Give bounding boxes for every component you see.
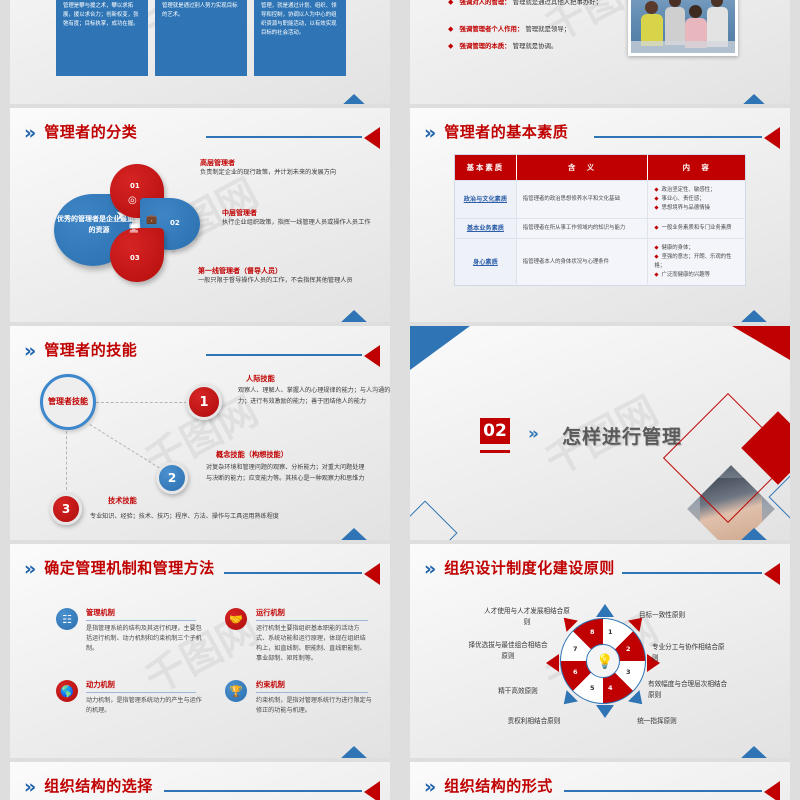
concept-box-1: 管理是攀与援之术，攀以求拓展，援以求合力；创新权变，张弛有度；目标执掌，成功在握… bbox=[56, 0, 148, 76]
petal-03-label: 第一线管理者（督导人员） bbox=[198, 266, 282, 276]
wheel-label-8: 人才使用与人才发展相结合原则 bbox=[484, 606, 570, 628]
mech-3-rule bbox=[86, 692, 196, 693]
table-row: 身心素质 指管理者本人的身体状况与心理条件 ◆健康的身体； ◆坚强的意志；开朗、… bbox=[455, 239, 746, 286]
mech-1-desc: 是指管理系统的结构及其运行机理，主要包括运行机制、动力机制和约束机制三个子机制。 bbox=[86, 624, 202, 654]
gutter-row-2 bbox=[0, 322, 800, 326]
page-title: 管理者的分类 bbox=[44, 122, 137, 143]
mech-2-heading: 运行机制 bbox=[256, 608, 285, 618]
blue-triangle-decoration bbox=[324, 746, 384, 758]
skill-3-desc: 专业知识、经验；技术、技巧；程序、方法、操作与工具运用熟练程度 bbox=[90, 512, 380, 523]
connector-1 bbox=[96, 402, 192, 403]
concept-box-3-text: 管理，就是通过计划、组织、领导和控制，协调以人为中心的组织资源与职能活动，以有效… bbox=[261, 3, 336, 36]
target-icon: ◎ bbox=[128, 195, 137, 206]
red-arrow-icon bbox=[364, 127, 380, 149]
skill-dot-3[interactable]: 3 bbox=[50, 493, 82, 525]
red-corner-triangle bbox=[732, 326, 790, 360]
bullet-1-text: 管理就是通过其他人把事办好； bbox=[513, 0, 602, 6]
title-rule bbox=[206, 124, 380, 148]
slide-header: » 管理者的基本素质 bbox=[424, 122, 782, 148]
skill-2-desc: 对复杂环境和管理问题的观察、分析能力；对重大问题处理与决断的能力；应变能力等。其… bbox=[206, 463, 370, 484]
blue-triangle-decoration bbox=[724, 746, 784, 758]
chevron-right-icon: » bbox=[424, 776, 432, 798]
table-header-content: 内 容 bbox=[648, 155, 746, 181]
slide-header: » 确定管理机制和管理方法 bbox=[24, 558, 382, 584]
petal-03-desc: 一般只限于督导操作人员的工作，不会指挥其他管理人员 bbox=[198, 276, 358, 286]
table-row: 基本业务素质 指管理者在所从事工作领域内的知识与能力 ◆一般业务素质和专门业务素… bbox=[455, 219, 746, 239]
skill-2-heading: 概念技能（构想技能） bbox=[216, 450, 288, 460]
page-title: 组织结构的形式 bbox=[444, 776, 553, 797]
principles-wheel: 💡 1 2 3 4 5 6 7 8 bbox=[556, 614, 650, 708]
slide-header: » 管理者的分类 bbox=[24, 122, 382, 148]
title-rule bbox=[164, 778, 380, 800]
red-diamond-outline bbox=[663, 393, 790, 523]
blue-triangle-decoration bbox=[724, 310, 784, 322]
cell-meaning: 指管理者在所从事工作领域内的知识与能力 bbox=[516, 219, 648, 239]
wheel-num-6: 6 bbox=[573, 668, 578, 676]
skills-center-circle: 管理者技能 bbox=[40, 374, 96, 430]
title-rule bbox=[224, 560, 380, 584]
title-rule bbox=[622, 560, 780, 584]
wheel-label-3: 有效幅度与合理层次相结合原则 bbox=[648, 679, 728, 701]
petal-01-desc: 负责制定企业的现行政策，并计划未来的发展方向 bbox=[200, 168, 350, 178]
cell-content: ◆健康的身体； ◆坚强的意志；开朗、乐观的性格； ◆广泛而健康的兴趣等 bbox=[648, 239, 746, 286]
slide-thumbnail-next-right[interactable]: » 组织结构的形式 bbox=[410, 762, 790, 800]
mech-3-desc: 动力机制，是指管理系统动力的产生与运作的机理。 bbox=[86, 696, 202, 716]
wheel-arrow-s bbox=[596, 705, 614, 718]
page-title: 管理者的技能 bbox=[44, 340, 137, 361]
wheel-label-7: 择优选拔与最佳组合相结合原则 bbox=[468, 640, 548, 662]
slide-header: » 组织结构的选择 bbox=[24, 776, 382, 800]
bullet-2-text: 管理就是领导； bbox=[525, 25, 570, 33]
gutter-right bbox=[790, 0, 800, 800]
page-title: 组织结构的选择 bbox=[44, 776, 153, 797]
skill-dot-1-number: 1 bbox=[199, 395, 208, 410]
blue-triangle-decoration bbox=[324, 528, 384, 540]
mech-2-rule bbox=[256, 620, 368, 621]
cell-quality: 政治与文化素质 bbox=[455, 181, 517, 219]
wheel-num-5: 5 bbox=[590, 684, 595, 692]
ppt-thumbnail-page: 千图网 管理是攀与援之术，攀以求拓展，援以求合力；创新权变，张弛有度；目标执掌，… bbox=[0, 0, 800, 800]
slide-header: » 组织设计制度化建设原则 bbox=[424, 558, 782, 584]
mech-1-rule bbox=[86, 620, 196, 621]
title-rule bbox=[594, 124, 780, 148]
slide-thumbnail-manager-classification[interactable]: 千图网 » 管理者的分类 优秀的管理者是企业最重要的资源 ➤ 01 ◎ 02 bbox=[10, 108, 390, 322]
gutter-row-4 bbox=[0, 758, 800, 762]
red-arrow-icon bbox=[364, 563, 380, 585]
bullet-3-label: 强调管理的本质： bbox=[459, 42, 510, 50]
page-title: 组织设计制度化建设原则 bbox=[444, 558, 615, 579]
blue-triangle-decoration bbox=[724, 528, 784, 540]
wheel-label-5: 责权利相结合原则 bbox=[496, 716, 572, 727]
bullet-2: ◆ 强调管理者个人作用： 管理就是领导； bbox=[448, 23, 628, 35]
concept-box-2: 管理就是通过别人努力实现目标的艺术。 bbox=[155, 0, 247, 76]
petal-diagram: 优秀的管理者是企业最重要的资源 ➤ 01 ◎ 02 💼 🖥 03 bbox=[54, 162, 194, 292]
gutter-center bbox=[390, 0, 410, 800]
page-title: 确定管理机制和管理方法 bbox=[44, 558, 215, 579]
cell-meaning: 指管理者的政治思想修养水平和文化基础 bbox=[516, 181, 648, 219]
bullet-1-label: 强调对人的管理： bbox=[459, 0, 510, 6]
section-number: 02 bbox=[480, 418, 510, 444]
title-rule bbox=[206, 342, 380, 366]
section-title: 怎样进行管理 bbox=[562, 422, 682, 449]
wheel-num-1: 1 bbox=[608, 628, 613, 636]
petal-02-number: 02 bbox=[170, 219, 180, 227]
gutter-row-1 bbox=[0, 104, 800, 108]
slide-thumbnail-mechanism-method[interactable]: 千图网 » 确定管理机制和管理方法 ☷ 管理机制 是指管理系统的结构及其运行机理… bbox=[10, 544, 390, 758]
briefcase-icon: 💼 bbox=[146, 215, 157, 225]
concept-box-1-text: 管理是攀与援之术，攀以求拓展，援以求合力；创新权变，张弛有度；目标执掌，成功在握… bbox=[63, 3, 138, 27]
cell-content: ◆政治坚定性、敏感性； ◆事业心、责任感； ◆思想境界与品德情操 bbox=[648, 181, 746, 219]
chevron-right-icon: » bbox=[424, 558, 432, 580]
slide-thumbnail-concept-boxes[interactable]: 千图网 管理是攀与援之术，攀以求拓展，援以求合力；创新权变，张弛有度；目标执掌，… bbox=[10, 0, 390, 106]
wheel-label-6: 精干高效原则 bbox=[484, 686, 552, 697]
petal-03-number: 03 bbox=[130, 254, 140, 262]
trophy-icon: 🏆 bbox=[225, 680, 247, 702]
cell-quality: 身心素质 bbox=[455, 239, 517, 286]
wheel-num-2: 2 bbox=[626, 645, 631, 653]
bullet-2-label: 强调管理者个人作用： bbox=[459, 25, 523, 33]
skill-1-heading: 人际技能 bbox=[246, 374, 275, 384]
mech-4-heading: 约束机制 bbox=[256, 680, 285, 690]
skill-dot-3-number: 3 bbox=[62, 502, 70, 516]
page-title: 管理者的基本素质 bbox=[444, 122, 568, 143]
diamond-bullet-icon: ◆ bbox=[448, 0, 453, 6]
gutter-row-3 bbox=[0, 540, 800, 544]
red-arrow-icon bbox=[764, 127, 780, 149]
table-header-quality: 基本素质 bbox=[455, 155, 517, 181]
chevron-right-icon: » bbox=[424, 122, 432, 144]
slide-thumbnail-section-02[interactable]: 千图网 02 » 怎样进行管理 bbox=[410, 326, 790, 540]
chevron-right-icon: » bbox=[24, 558, 32, 580]
bullet-3: ◆ 强调管理的本质： 管理就是协调。 bbox=[448, 40, 628, 52]
cell-quality: 基本业务素质 bbox=[455, 219, 517, 239]
table-header-meaning: 含 义 bbox=[516, 155, 648, 181]
table-header-row: 基本素质 含 义 内 容 bbox=[455, 155, 746, 181]
red-arrow-icon bbox=[764, 563, 780, 585]
table-row: 政治与文化素质 指管理者的政治思想修养水平和文化基础 ◆政治坚定性、敏感性； ◆… bbox=[455, 181, 746, 219]
money-globe-icon: 🌎 bbox=[56, 680, 78, 702]
slide-header: » 管理者的技能 bbox=[24, 340, 382, 366]
title-rule bbox=[564, 778, 780, 800]
handshake-icon: 🤝 bbox=[225, 608, 247, 630]
gutter-left bbox=[0, 0, 10, 800]
skill-dot-2-number: 2 bbox=[168, 471, 176, 485]
diamond-bullet-icon: ◆ bbox=[448, 42, 453, 50]
bullet-1: ◆ 强调对人的管理： 管理就是通过其他人把事办好； bbox=[448, 0, 628, 8]
skills-center-label: 管理者技能 bbox=[48, 396, 88, 408]
blue-corner-triangle bbox=[410, 326, 470, 370]
connector-2 bbox=[89, 424, 168, 474]
wheel-arrow-n bbox=[596, 604, 614, 617]
wheel-label-2: 专业分工与协作相结合原则 bbox=[652, 642, 726, 664]
slide-thumbnail-emphasis-bullets[interactable]: 千图网 ◆ 强调对人的管理： 管理就是通过其他人把事办好； ◆ 强调管理者个人作… bbox=[410, 0, 790, 106]
blue-diamond-outline bbox=[410, 500, 458, 540]
monitor-icon: 🖥 bbox=[128, 224, 139, 234]
org-chart-icon: ☷ bbox=[56, 608, 78, 630]
mech-3-heading: 动力机制 bbox=[86, 680, 115, 690]
mech-1-heading: 管理机制 bbox=[86, 608, 115, 618]
skill-3-heading: 技术技能 bbox=[108, 496, 137, 506]
section-underline bbox=[480, 450, 510, 453]
petal-02-label: 中层管理者 bbox=[222, 208, 257, 218]
skill-dot-1[interactable]: 1 bbox=[186, 384, 222, 420]
chevron-right-icon: » bbox=[24, 776, 32, 798]
slide-thumbnail-next-left[interactable]: » 组织结构的选择 bbox=[10, 762, 390, 800]
slide-thumbnail-org-design-principles[interactable]: 千图网 » 组织设计制度化建设原则 💡 1 2 bbox=[410, 544, 790, 758]
cell-content: ◆一般业务素质和专门业务素质 bbox=[648, 219, 746, 239]
wheel-label-1: 目标一致性原则 bbox=[622, 610, 702, 621]
lightbulb-icon: 💡 bbox=[596, 654, 613, 670]
wheel-num-3: 3 bbox=[626, 668, 631, 676]
concept-box-3: 管理，就是通过计划、组织、领导和控制，协调以人为中心的组织资源与职能活动，以有效… bbox=[254, 0, 346, 76]
red-arrow-icon bbox=[764, 781, 780, 800]
mech-4-rule bbox=[256, 692, 368, 693]
cell-meaning: 指管理者本人的身体状况与心理条件 bbox=[516, 239, 648, 286]
skill-1-desc: 观察人、理解人、掌握人的心理规律的能力；与人沟通的能力；进行有效激励的能力；善于… bbox=[238, 386, 390, 407]
chevron-right-icon: » bbox=[24, 122, 32, 144]
petal-01-number: 01 bbox=[130, 182, 140, 190]
petal-02-desc: 执行企业组织政策，指挥一线管理人员或操作人员工作 bbox=[222, 218, 382, 228]
wheel-num-4: 4 bbox=[608, 684, 613, 692]
slide-thumbnail-basic-qualities[interactable]: 千图网 » 管理者的基本素质 基本素质 含 义 内 容 政治与文化素质 指管理者… bbox=[410, 108, 790, 322]
concept-box-2-text: 管理就是通过别人努力实现目标的艺术。 bbox=[162, 3, 237, 18]
skill-dot-2[interactable]: 2 bbox=[156, 462, 188, 494]
mech-4-desc: 约束机制，是指对管理系统行为进行限定与修正的功能与机理。 bbox=[256, 696, 372, 716]
slide-header: » 组织结构的形式 bbox=[424, 776, 782, 800]
diamond-bullet-icon: ◆ bbox=[448, 25, 453, 33]
mech-2-desc: 运行机制主要指组织基本职能的活动方式、系统功能和运行原理，体现在组织结构上，如直… bbox=[256, 624, 370, 664]
connector-3 bbox=[66, 426, 67, 490]
chevron-right-icon: » bbox=[528, 424, 535, 444]
blue-triangle-decoration bbox=[324, 310, 384, 322]
wheel-num-7: 7 bbox=[573, 645, 578, 653]
petal-01-label: 高层管理者 bbox=[200, 158, 235, 168]
chevron-right-icon: » bbox=[24, 340, 32, 362]
wheel-label-4: 统一指挥原则 bbox=[622, 716, 692, 727]
wheel-num-8: 8 bbox=[590, 628, 595, 636]
red-arrow-icon bbox=[364, 781, 380, 800]
bullet-3-text: 管理就是协调。 bbox=[513, 42, 558, 50]
slide-thumbnail-manager-skills[interactable]: 千图网 » 管理者的技能 管理者技能 1 人际技能 观察人、理解人、掌握人的心理… bbox=[10, 326, 390, 540]
students-studying-photo bbox=[628, 0, 738, 56]
qualities-table: 基本素质 含 义 内 容 政治与文化素质 指管理者的政治思想修养水平和文化基础 … bbox=[454, 154, 746, 286]
red-arrow-icon bbox=[364, 345, 380, 367]
